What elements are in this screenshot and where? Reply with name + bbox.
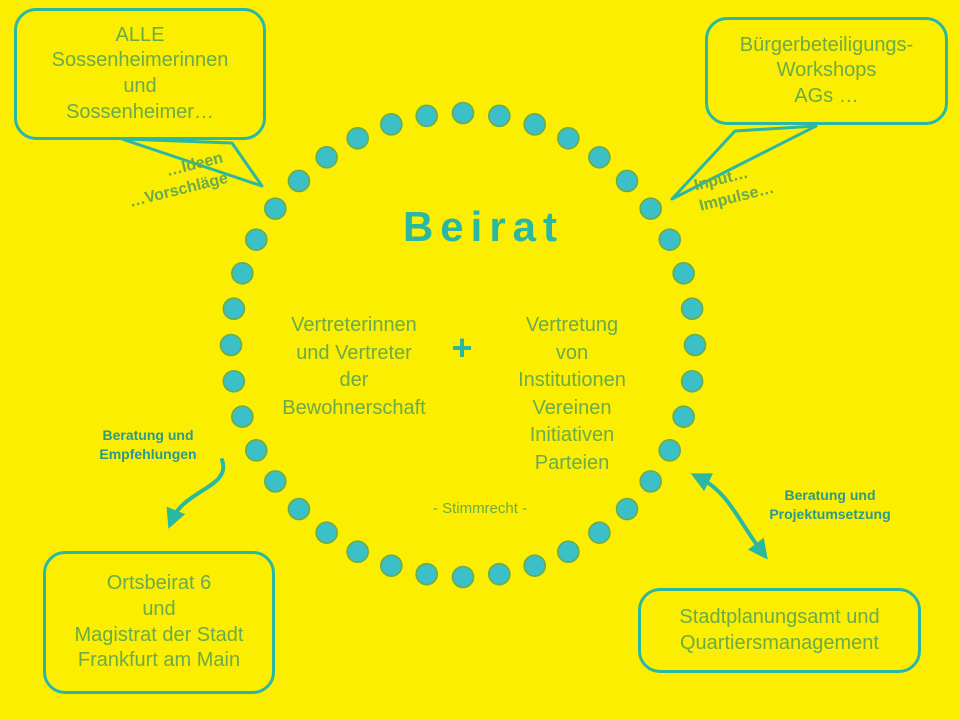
bubble-workshops-line-3: AGs … <box>794 84 858 110</box>
ring-dot <box>265 471 286 492</box>
column-institutions-line-5: Initiativen <box>486 422 658 450</box>
box-stadtplanung-line-2: Quartiersmanagement <box>680 631 879 657</box>
column-institutions: Vertretung von Institutionen Vereinen In… <box>486 312 658 478</box>
ring-dot <box>288 170 309 191</box>
page-title: Beirat <box>0 203 960 251</box>
bubble-citizens-line-1: ALLE <box>116 23 165 49</box>
bubble-citizens[interactable]: ALLE Sossenheimerinnen und Sossenheimer… <box>14 8 266 140</box>
ring-dot <box>221 335 242 356</box>
ring-dot <box>673 406 694 427</box>
box-ortsbeirat-line-3: Magistrat der Stadt <box>75 623 244 649</box>
ring-dot <box>232 406 253 427</box>
ring-dot <box>347 128 368 149</box>
label-beratung-projektumsetzung-line-2: Projektumsetzung <box>745 505 915 524</box>
box-ortsbeirat-line-1: Ortsbeirat 6 <box>107 571 211 597</box>
bubble-citizens-line-4: Sossenheimer… <box>66 100 214 126</box>
ring-dot <box>685 335 706 356</box>
ring-dot <box>453 567 474 588</box>
column-institutions-line-2: von <box>486 340 658 368</box>
box-stadtplanung[interactable]: Stadtplanungsamt und Quartiersmanagement <box>638 588 921 673</box>
bubble-workshops-line-2: Workshops <box>777 58 877 84</box>
column-residents-line-4: Bewohnerschaft <box>268 395 440 423</box>
box-ortsbeirat[interactable]: Ortsbeirat 6 und Magistrat der Stadt Fra… <box>43 551 275 694</box>
ring-dot <box>223 371 244 392</box>
column-institutions-line-1: Vertretung <box>486 312 658 340</box>
ring-dot <box>316 522 337 543</box>
column-institutions-line-6: Parteien <box>486 450 658 478</box>
box-stadtplanung-line-1: Stadtplanungsamt und <box>679 605 879 631</box>
ring-dot <box>589 147 610 168</box>
label-beratung-projektumsetzung-line-1: Beratung und <box>745 486 915 505</box>
column-residents-line-3: der <box>268 367 440 395</box>
ring-dot <box>524 555 545 576</box>
ring-dot <box>453 103 474 124</box>
column-institutions-line-4: Vereinen <box>486 395 658 423</box>
ring-dot <box>558 128 579 149</box>
ring-dot <box>524 114 545 135</box>
ring-dot <box>659 440 680 461</box>
bubble-citizens-line-3: und <box>123 74 156 100</box>
plus-icon: + <box>444 330 480 366</box>
column-institutions-line-3: Institutionen <box>486 367 658 395</box>
column-residents: Vertreterinnen und Vertreter der Bewohne… <box>268 312 440 422</box>
label-beratung-projektumsetzung: Beratung und Projektumsetzung <box>745 486 915 524</box>
column-residents-line-1: Vertreterinnen <box>268 312 440 340</box>
diagram-canvas: ALLE Sossenheimerinnen und Sossenheimer…… <box>0 0 960 720</box>
ring-dot <box>617 170 638 191</box>
ring-dot <box>316 147 337 168</box>
ring-dot <box>381 114 402 135</box>
ring-dot <box>223 298 244 319</box>
ring-dot <box>489 105 510 126</box>
ring-dot <box>347 541 368 562</box>
box-ortsbeirat-line-2: und <box>142 597 175 623</box>
column-residents-line-2: und Vertreter <box>268 340 440 368</box>
bubble-citizens-line-2: Sossenheimerinnen <box>52 48 229 74</box>
ring-dot <box>558 541 579 562</box>
ring-dot <box>416 564 437 585</box>
ring-dot <box>589 522 610 543</box>
ring-dot <box>381 555 402 576</box>
ring-dot <box>682 298 703 319</box>
ring-dot <box>682 371 703 392</box>
bubble-workshops[interactable]: Bürgerbeteiligungs- Workshops AGs … <box>705 17 948 125</box>
label-beratung-empfehlungen-line-1: Beratung und <box>78 426 218 445</box>
label-beratung-empfehlungen-line-2: Empfehlungen <box>78 445 218 464</box>
ring-dot <box>673 263 694 284</box>
label-beratung-empfehlungen: Beratung und Empfehlungen <box>78 426 218 464</box>
box-ortsbeirat-line-4: Frankfurt am Main <box>78 648 240 674</box>
ring-dot <box>489 564 510 585</box>
ring-dot <box>232 263 253 284</box>
ring-dot <box>246 440 267 461</box>
bubble-workshops-line-1: Bürgerbeteiligungs- <box>740 33 913 59</box>
ring-dot <box>416 105 437 126</box>
